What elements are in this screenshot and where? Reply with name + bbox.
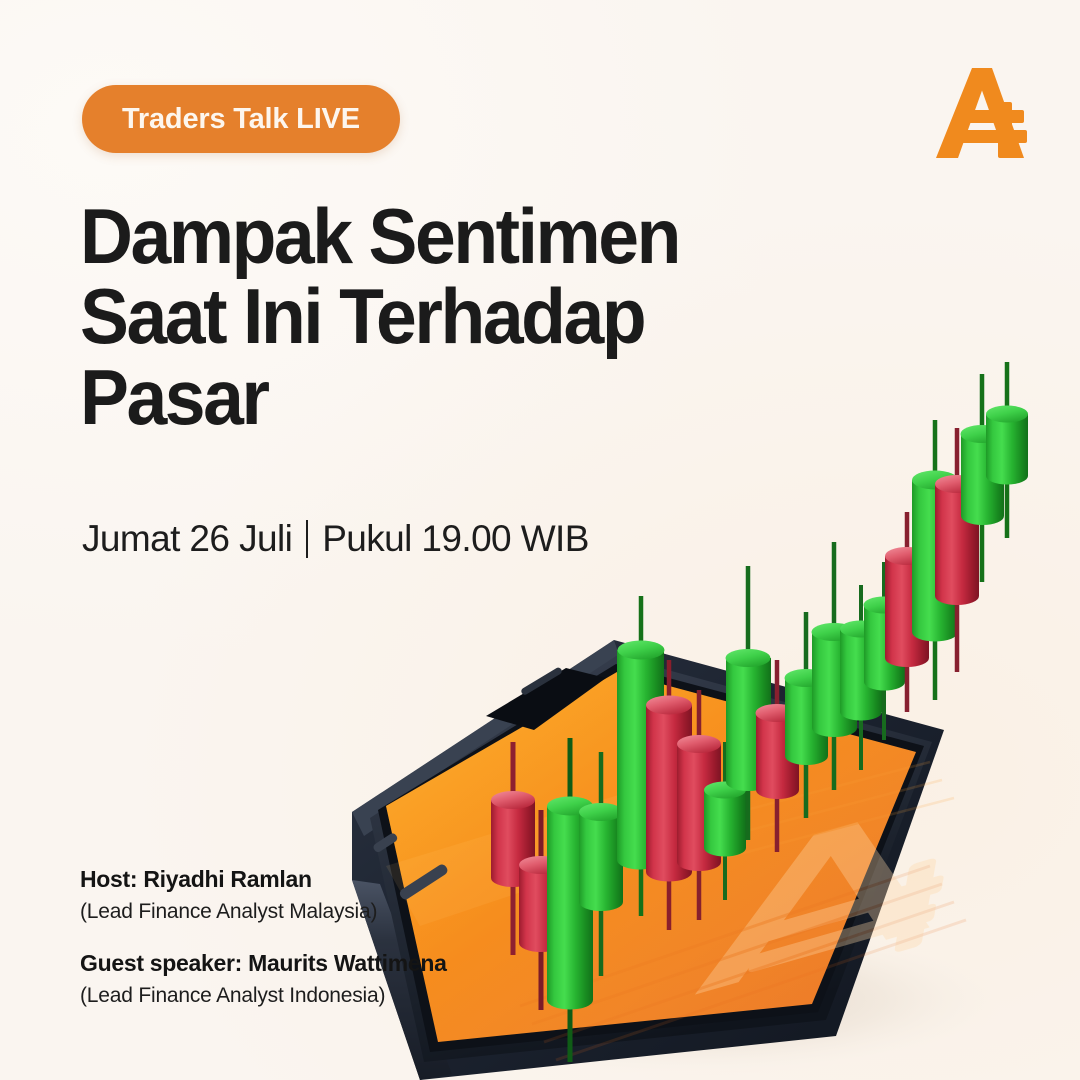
host-role: (Lead Finance Analyst Malaysia) [80,900,447,924]
guest-credit: Guest speaker: Maurits Wattimena (Lead F… [80,950,447,1008]
event-datetime: Jumat 26 Juli Pukul 19.00 WIB [82,518,589,560]
headline-line-3: Pasar [80,357,757,437]
host-name: Host: Riyadhi Ramlan [80,866,447,893]
host-credit: Host: Riyadhi Ramlan (Lead Finance Analy… [80,866,447,924]
datetime-separator [306,520,308,558]
speaker-credits: Host: Riyadhi Ramlan (Lead Finance Analy… [80,866,447,1008]
event-date: Jumat 26 Juli [82,518,292,560]
page-title: Dampak Sentimen Saat Ini Terhadap Pasar [80,196,800,437]
live-badge-label: Traders Talk LIVE [122,103,360,136]
poster-canvas: Traders Talk LIVE Dampak Sentimen Saat I… [0,0,1080,1080]
guest-role: (Lead Finance Analyst Indonesia) [80,984,447,1008]
ascend-a-logo-icon [928,62,1032,162]
live-badge[interactable]: Traders Talk LIVE [82,85,400,153]
event-time: Pukul 19.00 WIB [322,518,589,560]
guest-name: Guest speaker: Maurits Wattimena [80,950,447,977]
headline-line-1: Dampak Sentimen [80,196,757,276]
headline-line-2: Saat Ini Terhadap [80,276,757,356]
